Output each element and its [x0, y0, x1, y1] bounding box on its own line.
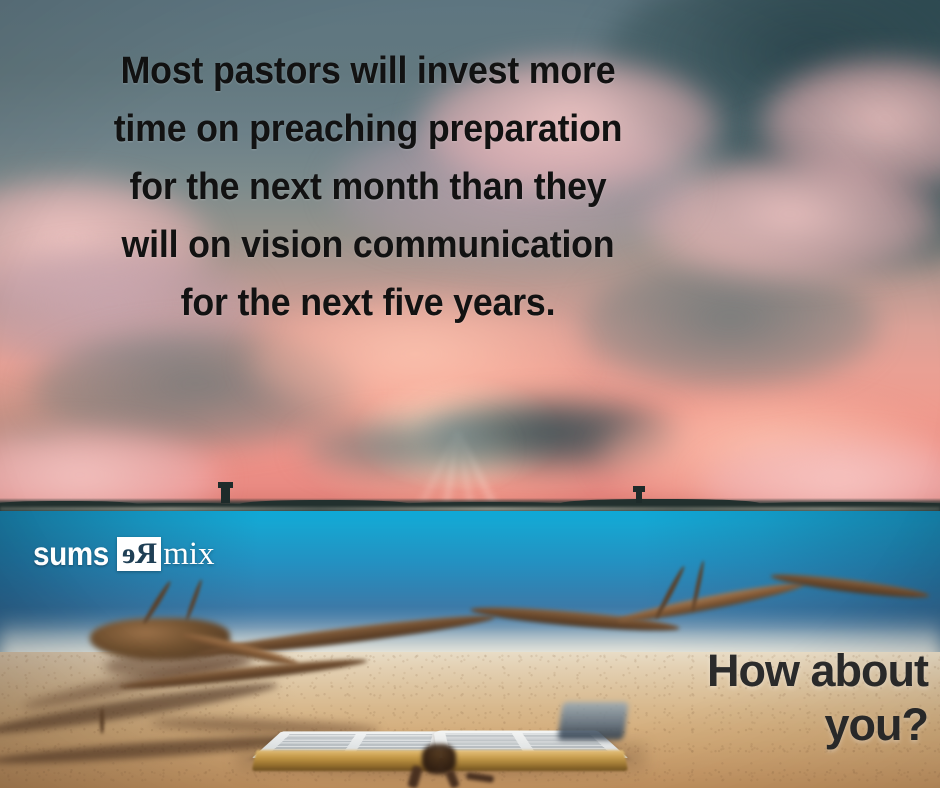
bible-gilded-edge-right [440, 750, 628, 771]
tower-silhouette-right [636, 491, 642, 503]
quote-line-5: for the next five years. [39, 274, 697, 332]
quote-line-3: for the next month than they [39, 158, 697, 216]
sun-rays [268, 300, 648, 530]
sums-remix-logo[interactable]: sums Re mix [33, 533, 215, 575]
call-to-action-text: How about you? [556, 644, 928, 752]
quote-line-4: will on vision communication [39, 216, 697, 274]
cta-line-2: you? [556, 698, 928, 752]
cta-line-1: How about [556, 644, 928, 698]
logo-text-sums: sums [33, 535, 109, 573]
water-tower-silhouette [221, 487, 230, 503]
quote-graphic: Most pastors will invest more time on pr… [0, 0, 940, 788]
quote-line-2: time on preaching preparation [39, 100, 697, 158]
logo-text-mix: mix [163, 536, 214, 573]
bible-ribbon-3 [466, 772, 495, 783]
quote-text: Most pastors will invest more time on pr… [39, 42, 697, 332]
logo-text-re: Re [122, 539, 157, 569]
driftwood-twig-5 [100, 708, 104, 734]
bible-ribbon-2 [445, 769, 460, 788]
quote-line-1: Most pastors will invest more [39, 42, 697, 100]
logo-mirrored-re-box: Re [117, 537, 161, 571]
